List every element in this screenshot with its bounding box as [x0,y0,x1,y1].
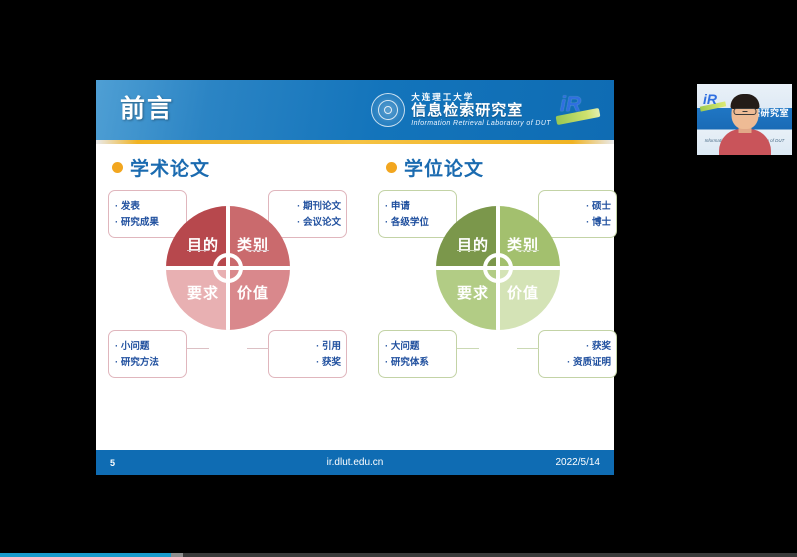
connector-line [457,348,479,349]
bullet-dot-icon [112,162,123,173]
glasses-icon [733,108,756,115]
playback-progress-fill [0,553,171,557]
connector-line [517,250,539,251]
section-heading-degree: 学位论文 [386,154,484,181]
screen-recording-viewport: 前言 大连理工大学 信息检索研究室 Information Retrieval … [0,0,797,557]
slide-body: 学术论文 学位论文 发表 研究成果 期刊论文 会议论文 [96,140,614,450]
section-heading-academic-label: 学术论文 [130,154,210,181]
quadrant-wheel: 目的 类别 要求 价值 [166,206,290,330]
ir-logo-icon: iR [558,90,598,130]
playback-buffer-fill [171,553,183,557]
info-item: 期刊论文 [297,202,341,212]
speaker-video-tile[interactable]: iR 索研究室 Information Retrieval Laboratory… [697,84,792,155]
bullet-dot-icon [386,162,397,173]
logo-english-name: Information Retrieval Laboratory of DUT [411,120,551,127]
quadrant-wheel: 目的 类别 要求 价值 [436,206,560,330]
slide-title: 前言 [120,89,174,125]
info-box-value: 引用 获奖 [268,330,347,378]
connector-line [457,250,479,251]
slide-footer-date: 2022/5/14 [556,457,601,468]
info-item: 获奖 [586,342,611,352]
section-heading-degree-label: 学位论文 [404,154,484,181]
logo-lab-name: 信息检索研究室 [411,103,551,118]
slide-footer: 5 ir.dlut.edu.cn 2022/5/14 [96,450,614,475]
info-item: 获奖 [316,358,341,368]
ir-mark-text: iR [703,91,717,107]
info-item: 博士 [586,218,611,228]
video-playback-scrubber[interactable] [0,553,797,557]
lab-logo-text: 大连理工大学 信息检索研究室 Information Retrieval Lab… [411,93,551,128]
degree-thesis-wheel: 申请 各级学位 硕士 博士 大问题 研究体系 获奖 资质证明 目的 类别 [374,188,622,388]
wheel-hub-ring-icon [483,253,513,283]
info-item: 硕士 [586,202,611,212]
ir-mark-text: iR [560,93,581,117]
slide-header-band: 前言 大连理工大学 信息检索研究室 Information Retrieval … [96,80,614,140]
connector-line [247,250,269,251]
info-item: 资质证明 [567,358,611,368]
info-item: 大问题 [385,342,451,352]
university-seal-icon [371,93,405,127]
connector-line [187,250,209,251]
info-box-requirement: 小问题 研究方法 [108,330,187,378]
logo-university-name: 大连理工大学 [411,93,551,102]
connector-line [517,348,539,349]
info-box-requirement: 大问题 研究体系 [378,330,457,378]
connector-line [187,348,209,349]
academic-paper-wheel: 发表 研究成果 期刊论文 会议论文 小问题 研究方法 引用 获奖 目的 类 [104,188,352,388]
slide-footer-url: ir.dlut.edu.cn [96,457,614,468]
section-heading-academic: 学术论文 [112,154,210,181]
info-item: 引用 [316,342,341,352]
info-box-value: 获奖 资质证明 [538,330,617,378]
presentation-slide: 前言 大连理工大学 信息检索研究室 Information Retrieval … [96,80,614,475]
info-item: 小问题 [115,342,181,352]
info-item: 会议论文 [297,218,341,228]
speaker-hair [730,94,759,109]
connector-line [247,348,269,349]
info-item: 研究方法 [115,358,181,368]
lab-logo: 大连理工大学 信息检索研究室 Information Retrieval Lab… [371,87,598,133]
info-item: 研究体系 [385,358,451,368]
wheel-hub-ring-icon [213,253,243,283]
